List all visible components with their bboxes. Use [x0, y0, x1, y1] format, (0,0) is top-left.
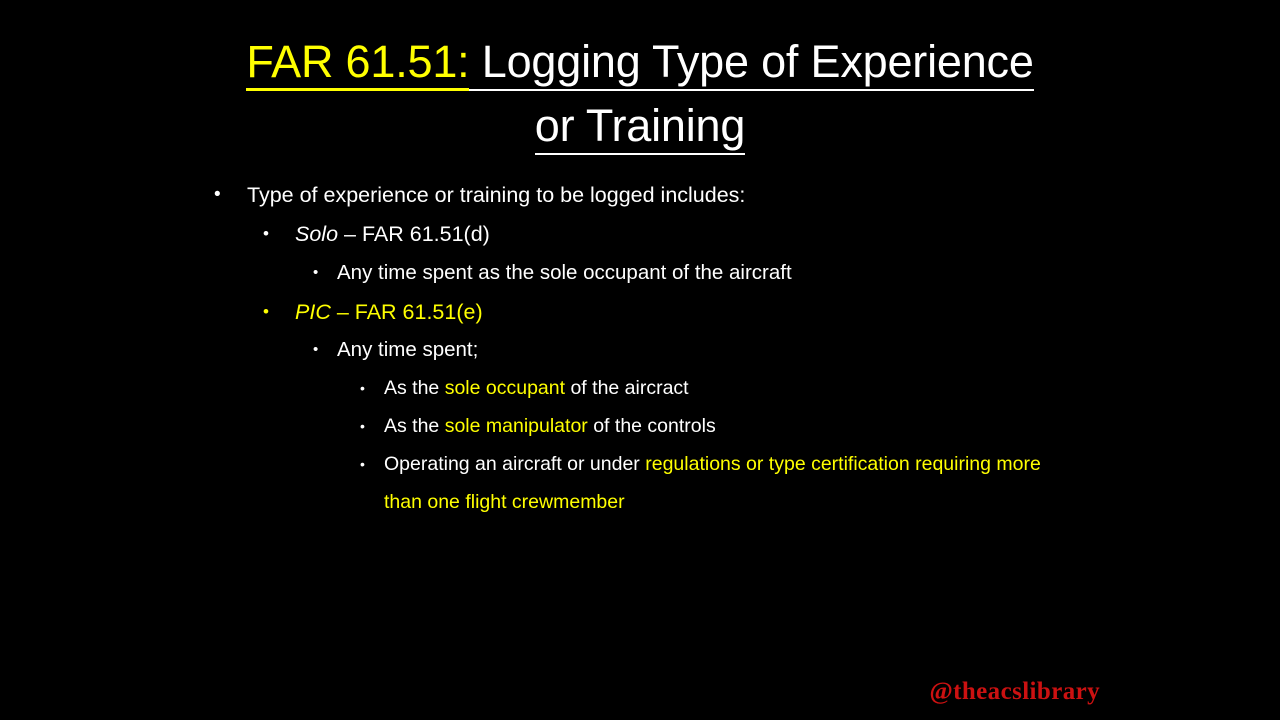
bullet-pic-term: PIC: [295, 300, 331, 324]
bullet-pic: • PIC – FAR 61.51(e): [0, 293, 1280, 331]
bullet-pic-item: • Operating an aircraft or under regulat…: [0, 445, 1280, 521]
bullet-solo-term: Solo: [295, 222, 338, 246]
bullet-pic-item: • As the sole occupant of the aircract: [0, 369, 1280, 407]
title-subject-line2: or Training: [535, 100, 745, 155]
bullet-pic-item-lead: Operating an aircraft or under: [384, 453, 645, 475]
bullet-solo-reference: – FAR 61.51(d): [338, 222, 490, 246]
bullet-pic-item-lead: As the: [384, 377, 445, 399]
bullet-marker-icon: •: [360, 407, 384, 445]
bullet-pic-detail: • Any time spent;: [0, 331, 1280, 369]
bullet-marker-icon: •: [263, 215, 295, 253]
slide-canvas: FAR 61.51: Logging Type of Experience or…: [0, 0, 1280, 720]
bullet-list: • Type of experience or training to be l…: [0, 176, 1280, 521]
bullet-marker-icon: •: [313, 254, 337, 292]
bullet-solo-detail-text: Any time spent as the sole occupant of t…: [337, 254, 792, 292]
bullet-solo: • Solo – FAR 61.51(d): [0, 215, 1280, 253]
bullet-pic-reference: – FAR 61.51(e): [331, 300, 483, 324]
bullet-pic-item-tail: of the aircract: [565, 377, 689, 399]
bullet-pic-item-emphasis: sole manipulator: [445, 415, 588, 437]
bullet-marker-icon: •: [313, 331, 337, 369]
bullet-marker-icon: •: [214, 176, 247, 214]
bullet-pic-item-emphasis: sole occupant: [445, 377, 565, 399]
title-subject-line1: Logging Type of Experience: [469, 36, 1033, 91]
bullet-pic-item-lead: As the: [384, 415, 445, 437]
bullet-intro: • Type of experience or training to be l…: [0, 176, 1280, 214]
bullet-marker-icon: •: [263, 293, 295, 331]
bullet-marker-icon: •: [360, 445, 384, 483]
bullet-pic-detail-text: Any time spent;: [337, 331, 478, 369]
bullet-marker-icon: •: [360, 369, 384, 407]
bullet-intro-text: Type of experience or training to be log…: [247, 176, 745, 214]
bullet-pic-item: • As the sole manipulator of the control…: [0, 407, 1280, 445]
page-title: FAR 61.51: Logging Type of Experience or…: [140, 30, 1140, 158]
bullet-solo-detail: • Any time spent as the sole occupant of…: [0, 254, 1280, 292]
watermark-handle: @theacslibrary: [930, 678, 1101, 706]
bullet-pic-item-tail: of the controls: [588, 415, 716, 437]
title-regulation: FAR 61.51:: [246, 36, 469, 91]
